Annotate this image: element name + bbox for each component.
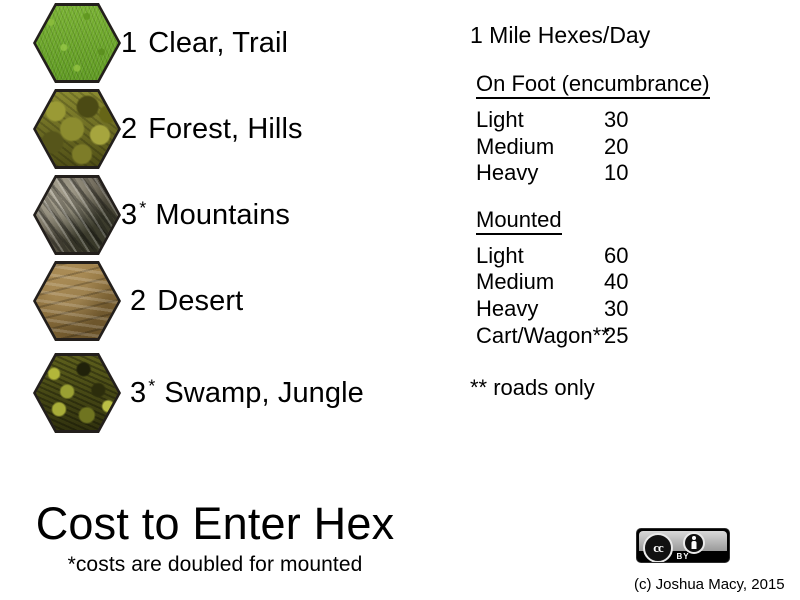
swamp-hex-icon [33, 353, 121, 433]
terrain-cost: 2 [130, 285, 146, 317]
rate-row: Medium 40 [476, 269, 790, 296]
desert-hex-icon [33, 261, 121, 341]
rate-row: Heavy 10 [476, 160, 790, 187]
section-spacer [470, 187, 790, 209]
creative-commons-by-badge-icon[interactable]: cc BY [636, 528, 730, 563]
terrain-name: Desert [157, 285, 243, 317]
person-body [692, 541, 697, 549]
rates-title: 1 Mile Hexes/Day [470, 24, 790, 47]
terrain-row: 2Forest, Hills [0, 86, 430, 172]
rate-value: 30 [604, 296, 628, 323]
slide-canvas: 1Clear, Trail 2Forest, Hills 3*Mountains [0, 0, 800, 600]
terrain-label: 2Desert [130, 287, 243, 316]
rate-value: 20 [604, 134, 628, 161]
terrain-name: Swamp, Jungle [164, 377, 364, 409]
rate-row: Heavy 30 [476, 296, 790, 323]
rate-row: Light 60 [476, 243, 790, 270]
movement-rates-panel: 1 Mile Hexes/Day On Foot (encumbrance) L… [470, 24, 790, 399]
terrain-label: 3*Mountains [121, 201, 290, 230]
terrain-cost: 3 [130, 377, 146, 409]
terrain-cost: 3 [121, 199, 137, 231]
rate-value: 25 [604, 323, 628, 350]
rate-label: Heavy [476, 296, 604, 323]
page-subtitle: *costs are doubled for mounted [0, 553, 430, 576]
rate-value: 30 [604, 107, 628, 134]
mountain-hex-icon [33, 175, 121, 255]
footnote: ** roads only [470, 377, 790, 399]
terrain-name: Forest, Hills [148, 113, 302, 145]
attribution-person-icon [683, 532, 705, 554]
rate-label: Medium [476, 134, 604, 161]
rate-row: Medium 20 [476, 134, 790, 161]
mounted-heading: Mounted [476, 209, 562, 235]
terrain-row: 3*Mountains [0, 172, 430, 258]
rate-value: 10 [604, 160, 628, 187]
terrain-row: 3*Swamp, Jungle [0, 350, 430, 436]
on-foot-section: On Foot (encumbrance) Light 30 Medium 20… [476, 73, 790, 187]
terrain-cost: 1 [121, 27, 137, 59]
terrain-cost-star: * [148, 375, 155, 395]
terrain-label: 2Forest, Hills [121, 115, 303, 144]
grass-hex-icon [33, 3, 121, 83]
forest-hex-icon [33, 89, 121, 169]
rate-label: Heavy [476, 160, 604, 187]
terrain-name: Clear, Trail [148, 27, 288, 59]
rate-row: Light 30 [476, 107, 790, 134]
title-block: Cost to Enter Hex *costs are doubled for… [0, 500, 430, 576]
person-head [692, 536, 696, 540]
terrain-cost: 2 [121, 113, 137, 145]
terrain-legend: 1Clear, Trail 2Forest, Hills 3*Mountains [0, 0, 430, 490]
terrain-name: Mountains [155, 199, 290, 231]
mounted-section: Mounted Light 60 Medium 40 Heavy 30 Cart… [476, 209, 790, 349]
on-foot-heading: On Foot (encumbrance) [476, 73, 710, 99]
copyright-credit: (c) Joshua Macy, 2015 [634, 577, 796, 592]
rate-value: 60 [604, 243, 628, 270]
license-area: cc BY (c) Joshua Macy, 2015 [636, 528, 796, 592]
rate-value: 40 [604, 269, 628, 296]
terrain-row: 1Clear, Trail [0, 0, 430, 86]
terrain-label: 3*Swamp, Jungle [130, 379, 364, 408]
terrain-row: 2Desert [0, 258, 430, 344]
rate-row: Cart/Wagon** 25 [476, 323, 790, 350]
rate-label: Medium [476, 269, 604, 296]
page-title: Cost to Enter Hex [0, 500, 430, 548]
terrain-label: 1Clear, Trail [121, 29, 288, 58]
badge-by-label: BY [637, 552, 729, 561]
rate-label: Light [476, 107, 604, 134]
rate-label: Cart/Wagon** [476, 323, 604, 350]
rate-label: Light [476, 243, 604, 270]
terrain-cost-star: * [139, 197, 146, 217]
